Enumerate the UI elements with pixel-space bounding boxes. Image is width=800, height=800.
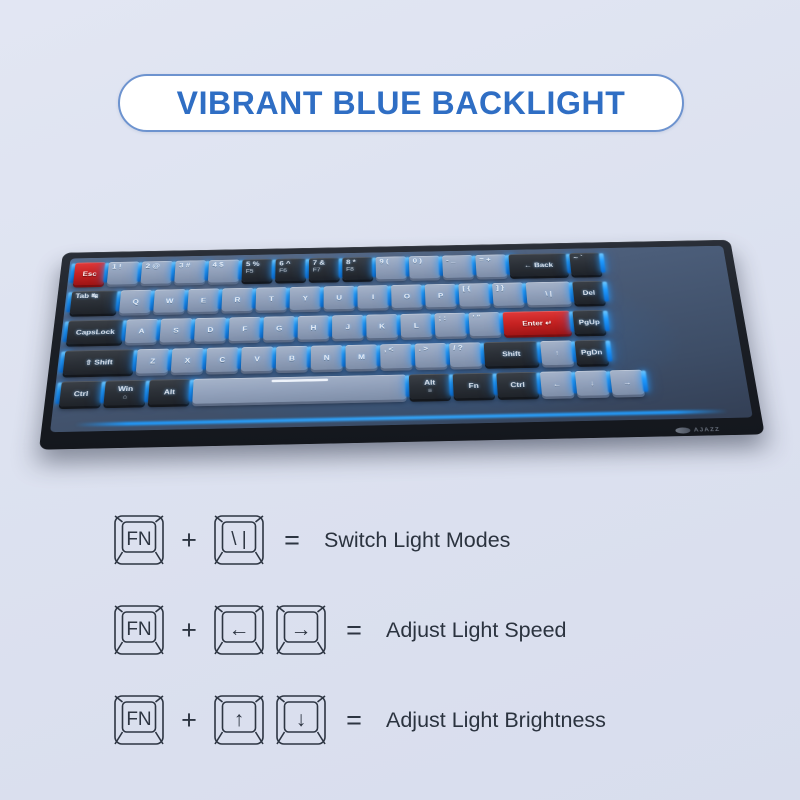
keycap-c[interactable]: C bbox=[206, 347, 239, 372]
instruction-row-adjust-light-speed: FN+←→=Adjust Light Speed bbox=[0, 585, 800, 675]
instruction-label: Switch Light Modes bbox=[318, 528, 510, 553]
equals-symbol: = bbox=[328, 615, 380, 646]
keycap-legend-primary: O bbox=[404, 293, 410, 300]
outline-keycap-label: FN bbox=[112, 693, 166, 747]
key-backlight-row-end bbox=[602, 282, 609, 302]
keycap-win[interactable]: Win⌂ bbox=[103, 380, 146, 406]
outline-keycap-label: FN bbox=[112, 603, 166, 657]
outline-keycap-label: ↓ bbox=[274, 693, 328, 747]
shortcut-instructions: FN+\ |=Switch Light ModesFN+←→=Adjust Li… bbox=[0, 495, 800, 765]
keycap-right[interactable]: → bbox=[610, 370, 645, 395]
key-backlight-row-end bbox=[603, 311, 610, 331]
keycap-left[interactable]: ← bbox=[540, 371, 574, 396]
keycap-rshift[interactable]: Shift bbox=[484, 341, 540, 366]
keycap-s[interactable]: S bbox=[159, 318, 192, 342]
keycap-del[interactable]: Del bbox=[572, 281, 605, 304]
keycap-legend-primary: 3 # bbox=[179, 262, 190, 269]
keycap-d[interactable]: D bbox=[194, 318, 227, 342]
outline-keycap-switch-light-modes-0: \ | bbox=[212, 513, 266, 567]
keycap-legend-primary: ' " bbox=[472, 314, 480, 321]
plus-symbol: + bbox=[166, 525, 212, 556]
outline-keycap-label: → bbox=[274, 603, 328, 657]
keycap-legend-primary: Alt bbox=[164, 388, 176, 396]
keycap-0[interactable]: 0 ) bbox=[409, 256, 440, 279]
page-title: VIBRANT BLUE BACKLIGHT bbox=[177, 85, 626, 122]
keyboard-product-image: Esc1 !2 @3 #4 $5 %F56 ^F67 &F78 *F89 (0 … bbox=[40, 196, 766, 462]
keycap-legend-primary: 0 ) bbox=[413, 258, 422, 265]
keycap-legend-primary: Ctrl bbox=[73, 390, 88, 398]
keycap-legend-primary: J bbox=[346, 323, 351, 330]
keycap-5[interactable]: 5 %F5 bbox=[242, 259, 273, 282]
keycap-x[interactable]: X bbox=[171, 348, 204, 373]
keycap-q[interactable]: Q bbox=[119, 290, 152, 314]
keycap-legend-primary: Q bbox=[132, 298, 139, 305]
keycap-l[interactable]: L bbox=[400, 313, 432, 337]
keycap-legend-secondary: F5 bbox=[246, 268, 260, 274]
keycap-legend-primary: CapsLock bbox=[75, 328, 115, 336]
keycap-legend-primary: D bbox=[207, 326, 213, 333]
keycap-legend-primary: S bbox=[173, 327, 179, 334]
keycap-legend-primary: ← bbox=[553, 380, 562, 388]
keycap-rbrace[interactable]: ] } bbox=[492, 282, 525, 306]
keycap-legend-primary: I bbox=[372, 293, 374, 300]
keycap-up[interactable]: ↑ bbox=[540, 340, 574, 365]
keycap-legend-primary: Esc bbox=[82, 270, 97, 277]
outline-keycap-adjust-light-brightness-1: ↓ bbox=[274, 693, 328, 747]
keycap-n[interactable]: N bbox=[311, 345, 343, 370]
instruction-row-switch-light-modes: FN+\ |=Switch Light Modes bbox=[0, 495, 800, 585]
keycap-legend-primary: B bbox=[289, 355, 295, 362]
keycap-1[interactable]: 1 ! bbox=[107, 262, 140, 285]
keycap-legend-primary: F bbox=[242, 325, 247, 332]
keycap-legend-secondary: ⌂ bbox=[122, 394, 127, 400]
keycap-legend-primary: Z bbox=[150, 357, 156, 364]
keycap-6[interactable]: 6 ^F6 bbox=[275, 258, 306, 281]
keycap-legend-primary: ⇧ Shift bbox=[85, 358, 113, 366]
keycap-pgdn[interactable]: PgDn bbox=[575, 340, 609, 365]
keycap-slash[interactable]: / ? bbox=[449, 342, 482, 367]
keycap-legend-primary: ] } bbox=[496, 284, 504, 291]
keycap-u[interactable]: U bbox=[324, 286, 355, 310]
keycap-4[interactable]: 4 $ bbox=[208, 260, 240, 283]
keycap-rctrl[interactable]: Ctrl bbox=[496, 372, 539, 398]
keycap-legend-primary: = + bbox=[479, 256, 491, 263]
keycap-legend-primary: Ctrl bbox=[510, 381, 525, 389]
keycap-legend-primary: PgDn bbox=[581, 348, 603, 356]
keycap-z[interactable]: Z bbox=[136, 349, 170, 374]
keycap-i[interactable]: I bbox=[357, 285, 388, 309]
keycap-v[interactable]: V bbox=[241, 347, 274, 372]
keycap-a[interactable]: A bbox=[125, 319, 159, 343]
keycap-legend-primary: W bbox=[166, 297, 174, 304]
keycap-legend-primary: ← Back bbox=[524, 261, 553, 268]
keycap-legend-primary: H bbox=[311, 324, 317, 331]
keycap-legend-secondary: F8 bbox=[346, 266, 356, 272]
keycap-space[interactable] bbox=[192, 375, 406, 404]
outline-keycap-fn-adjust-light-brightness: FN bbox=[112, 693, 166, 747]
keycap-legend-secondary: F6 bbox=[279, 267, 290, 273]
keyboard-body: Esc1 !2 @3 #4 $5 %F56 ^F67 &F78 *F89 (0 … bbox=[39, 240, 765, 450]
keycap-legend-primary: , < bbox=[384, 346, 393, 353]
keycap-t[interactable]: T bbox=[255, 287, 287, 311]
keycap-legend-primary: ↑ bbox=[555, 349, 560, 356]
keycap-legend-primary: / ? bbox=[453, 344, 463, 351]
keycap-comma[interactable]: , < bbox=[380, 344, 412, 369]
brand-mark-icon bbox=[675, 427, 691, 433]
keycap-legend-primary: ↓ bbox=[590, 379, 595, 386]
keycap-legend-primary: X bbox=[185, 357, 191, 364]
outline-keycap-adjust-light-speed-0: ← bbox=[212, 603, 266, 657]
keycap-9[interactable]: 9 ( bbox=[376, 256, 407, 279]
keycap-legend-primary: Tab ↹ bbox=[75, 292, 98, 299]
keycap-semi[interactable]: ; : bbox=[434, 313, 467, 337]
keycap-down[interactable]: ↓ bbox=[575, 370, 610, 395]
keycap-legend-secondary: ≡ bbox=[428, 387, 432, 393]
keycap-legend-primary: 4 $ bbox=[212, 261, 223, 268]
keycap-legend-primary: → bbox=[623, 379, 632, 387]
keycap-legend-primary: Shift bbox=[502, 350, 521, 358]
keycap-legend-primary: T bbox=[269, 295, 274, 302]
spacebar-indicator bbox=[272, 379, 329, 383]
keycap-pgup[interactable]: PgUp bbox=[572, 310, 606, 334]
instruction-label: Adjust Light Speed bbox=[380, 618, 567, 643]
keycap-ralt[interactable]: Alt≡ bbox=[409, 374, 451, 400]
keycap-minus[interactable]: - _ bbox=[442, 255, 474, 278]
keycap-legend-primary: U bbox=[336, 294, 342, 301]
keycap-period[interactable]: . > bbox=[415, 343, 448, 368]
keycap-legend-primary: PgUp bbox=[578, 318, 600, 325]
keycap-legend-primary: - _ bbox=[446, 257, 456, 264]
keycap-f[interactable]: F bbox=[229, 317, 261, 341]
keycap-enter[interactable]: Enter ↵ bbox=[503, 311, 572, 336]
key-backlight-row-end bbox=[599, 253, 606, 272]
keycap-g[interactable]: G bbox=[263, 316, 295, 340]
keycap-legend-primary: Fn bbox=[468, 382, 479, 390]
keycap-lshift[interactable]: ⇧ Shift bbox=[63, 349, 135, 375]
keycap-3[interactable]: 3 # bbox=[174, 260, 206, 283]
outline-keycap-label: \ | bbox=[212, 513, 266, 567]
keycap-legend-primary: [ { bbox=[462, 285, 470, 292]
keycap-esc[interactable]: Esc bbox=[73, 262, 106, 285]
keycap-p[interactable]: P bbox=[425, 284, 457, 308]
keycap-o[interactable]: O bbox=[391, 284, 423, 308]
keycap-legend-primary: 2 @ bbox=[145, 263, 160, 270]
keycap-legend-primary: L bbox=[414, 322, 419, 329]
keycap-legend-primary: 9 ( bbox=[379, 258, 388, 265]
keycap-tilde[interactable]: ~ ` bbox=[569, 253, 602, 276]
equals-symbol: = bbox=[328, 705, 380, 736]
keycap-legend-primary: E bbox=[201, 297, 207, 304]
title-banner: VIBRANT BLUE BACKLIGHT bbox=[118, 74, 684, 132]
keycap-legend-primary: ; : bbox=[438, 315, 446, 322]
keycap-legend-primary: 1 ! bbox=[112, 263, 122, 270]
keycap-b[interactable]: B bbox=[276, 346, 308, 371]
keycap-e[interactable]: E bbox=[187, 288, 219, 312]
keycap-lbrace[interactable]: [ { bbox=[458, 283, 490, 307]
keycap-legend-primary: N bbox=[324, 354, 330, 361]
outline-keycap-label: ← bbox=[212, 603, 266, 657]
keycap-legend-primary: M bbox=[358, 353, 365, 360]
keyboard-plate: Esc1 !2 @3 #4 $5 %F56 ^F67 &F78 *F89 (0 … bbox=[50, 246, 753, 432]
outline-keycap-fn-adjust-light-speed: FN bbox=[112, 603, 166, 657]
keycap-j[interactable]: J bbox=[332, 315, 364, 339]
keycap-legend-primary: Enter ↵ bbox=[522, 319, 552, 327]
keycap-fn[interactable]: Fn bbox=[453, 373, 495, 399]
outline-keycap-adjust-light-speed-1: → bbox=[274, 603, 328, 657]
keycap-tab[interactable]: Tab ↹ bbox=[70, 290, 119, 314]
instruction-row-adjust-light-brightness: FN+↑↓=Adjust Light Brightness bbox=[0, 675, 800, 765]
keycap-legend-primary: C bbox=[219, 356, 225, 363]
outline-keycap-adjust-light-brightness-0: ↑ bbox=[212, 693, 266, 747]
keycap-backspace[interactable]: ← Back bbox=[508, 253, 568, 276]
outline-keycap-label: ↑ bbox=[212, 693, 266, 747]
instruction-label: Adjust Light Brightness bbox=[380, 708, 606, 733]
keycap-h[interactable]: H bbox=[298, 315, 330, 339]
brand-logo: AJAZZ bbox=[675, 427, 721, 434]
keycap-legend-primary: V bbox=[254, 355, 260, 362]
equals-symbol: = bbox=[266, 525, 318, 556]
keycap-legend-primary: K bbox=[379, 323, 385, 330]
keycap-legend-primary: Del bbox=[582, 289, 595, 296]
keycap-legend-primary: R bbox=[234, 296, 240, 303]
keycap-caps[interactable]: CapsLock bbox=[66, 320, 124, 345]
keycap-2[interactable]: 2 @ bbox=[140, 261, 173, 284]
keycap-legend-primary: A bbox=[138, 327, 144, 334]
plus-symbol: + bbox=[166, 615, 212, 646]
keycap-y[interactable]: Y bbox=[290, 286, 321, 310]
keycap-k[interactable]: K bbox=[366, 314, 398, 338]
keycap-equal[interactable]: = + bbox=[475, 254, 507, 277]
keycap-w[interactable]: W bbox=[153, 289, 186, 313]
keycap-legend-secondary: F7 bbox=[313, 267, 325, 273]
brand-name: AJAZZ bbox=[693, 427, 720, 434]
keycap-legend-primary: . > bbox=[419, 345, 429, 352]
keycap-m[interactable]: M bbox=[346, 344, 378, 369]
outline-keycap-label: FN bbox=[112, 513, 166, 567]
plus-symbol: + bbox=[166, 705, 212, 736]
keycap-r[interactable]: R bbox=[221, 288, 253, 312]
key-backlight-row-end bbox=[605, 341, 612, 362]
keycap-legend-primary: P bbox=[438, 292, 444, 299]
keycap-legend-primary: G bbox=[276, 325, 282, 332]
keycap-bslash[interactable]: \ | bbox=[526, 282, 572, 306]
keycap-8[interactable]: 8 *F8 bbox=[342, 257, 373, 280]
keycap-legend-primary: ~ ` bbox=[573, 254, 583, 261]
keycap-quote[interactable]: ' " bbox=[468, 312, 501, 336]
keycap-lalt[interactable]: Alt bbox=[148, 379, 191, 405]
keycap-lctrl[interactable]: Ctrl bbox=[59, 381, 103, 407]
keycap-legend-primary: Y bbox=[303, 295, 308, 302]
outline-keycap-fn-switch-light-modes: FN bbox=[112, 513, 166, 567]
keycap-7[interactable]: 7 &F7 bbox=[309, 258, 340, 281]
keycap-legend-primary: \ | bbox=[545, 290, 552, 297]
